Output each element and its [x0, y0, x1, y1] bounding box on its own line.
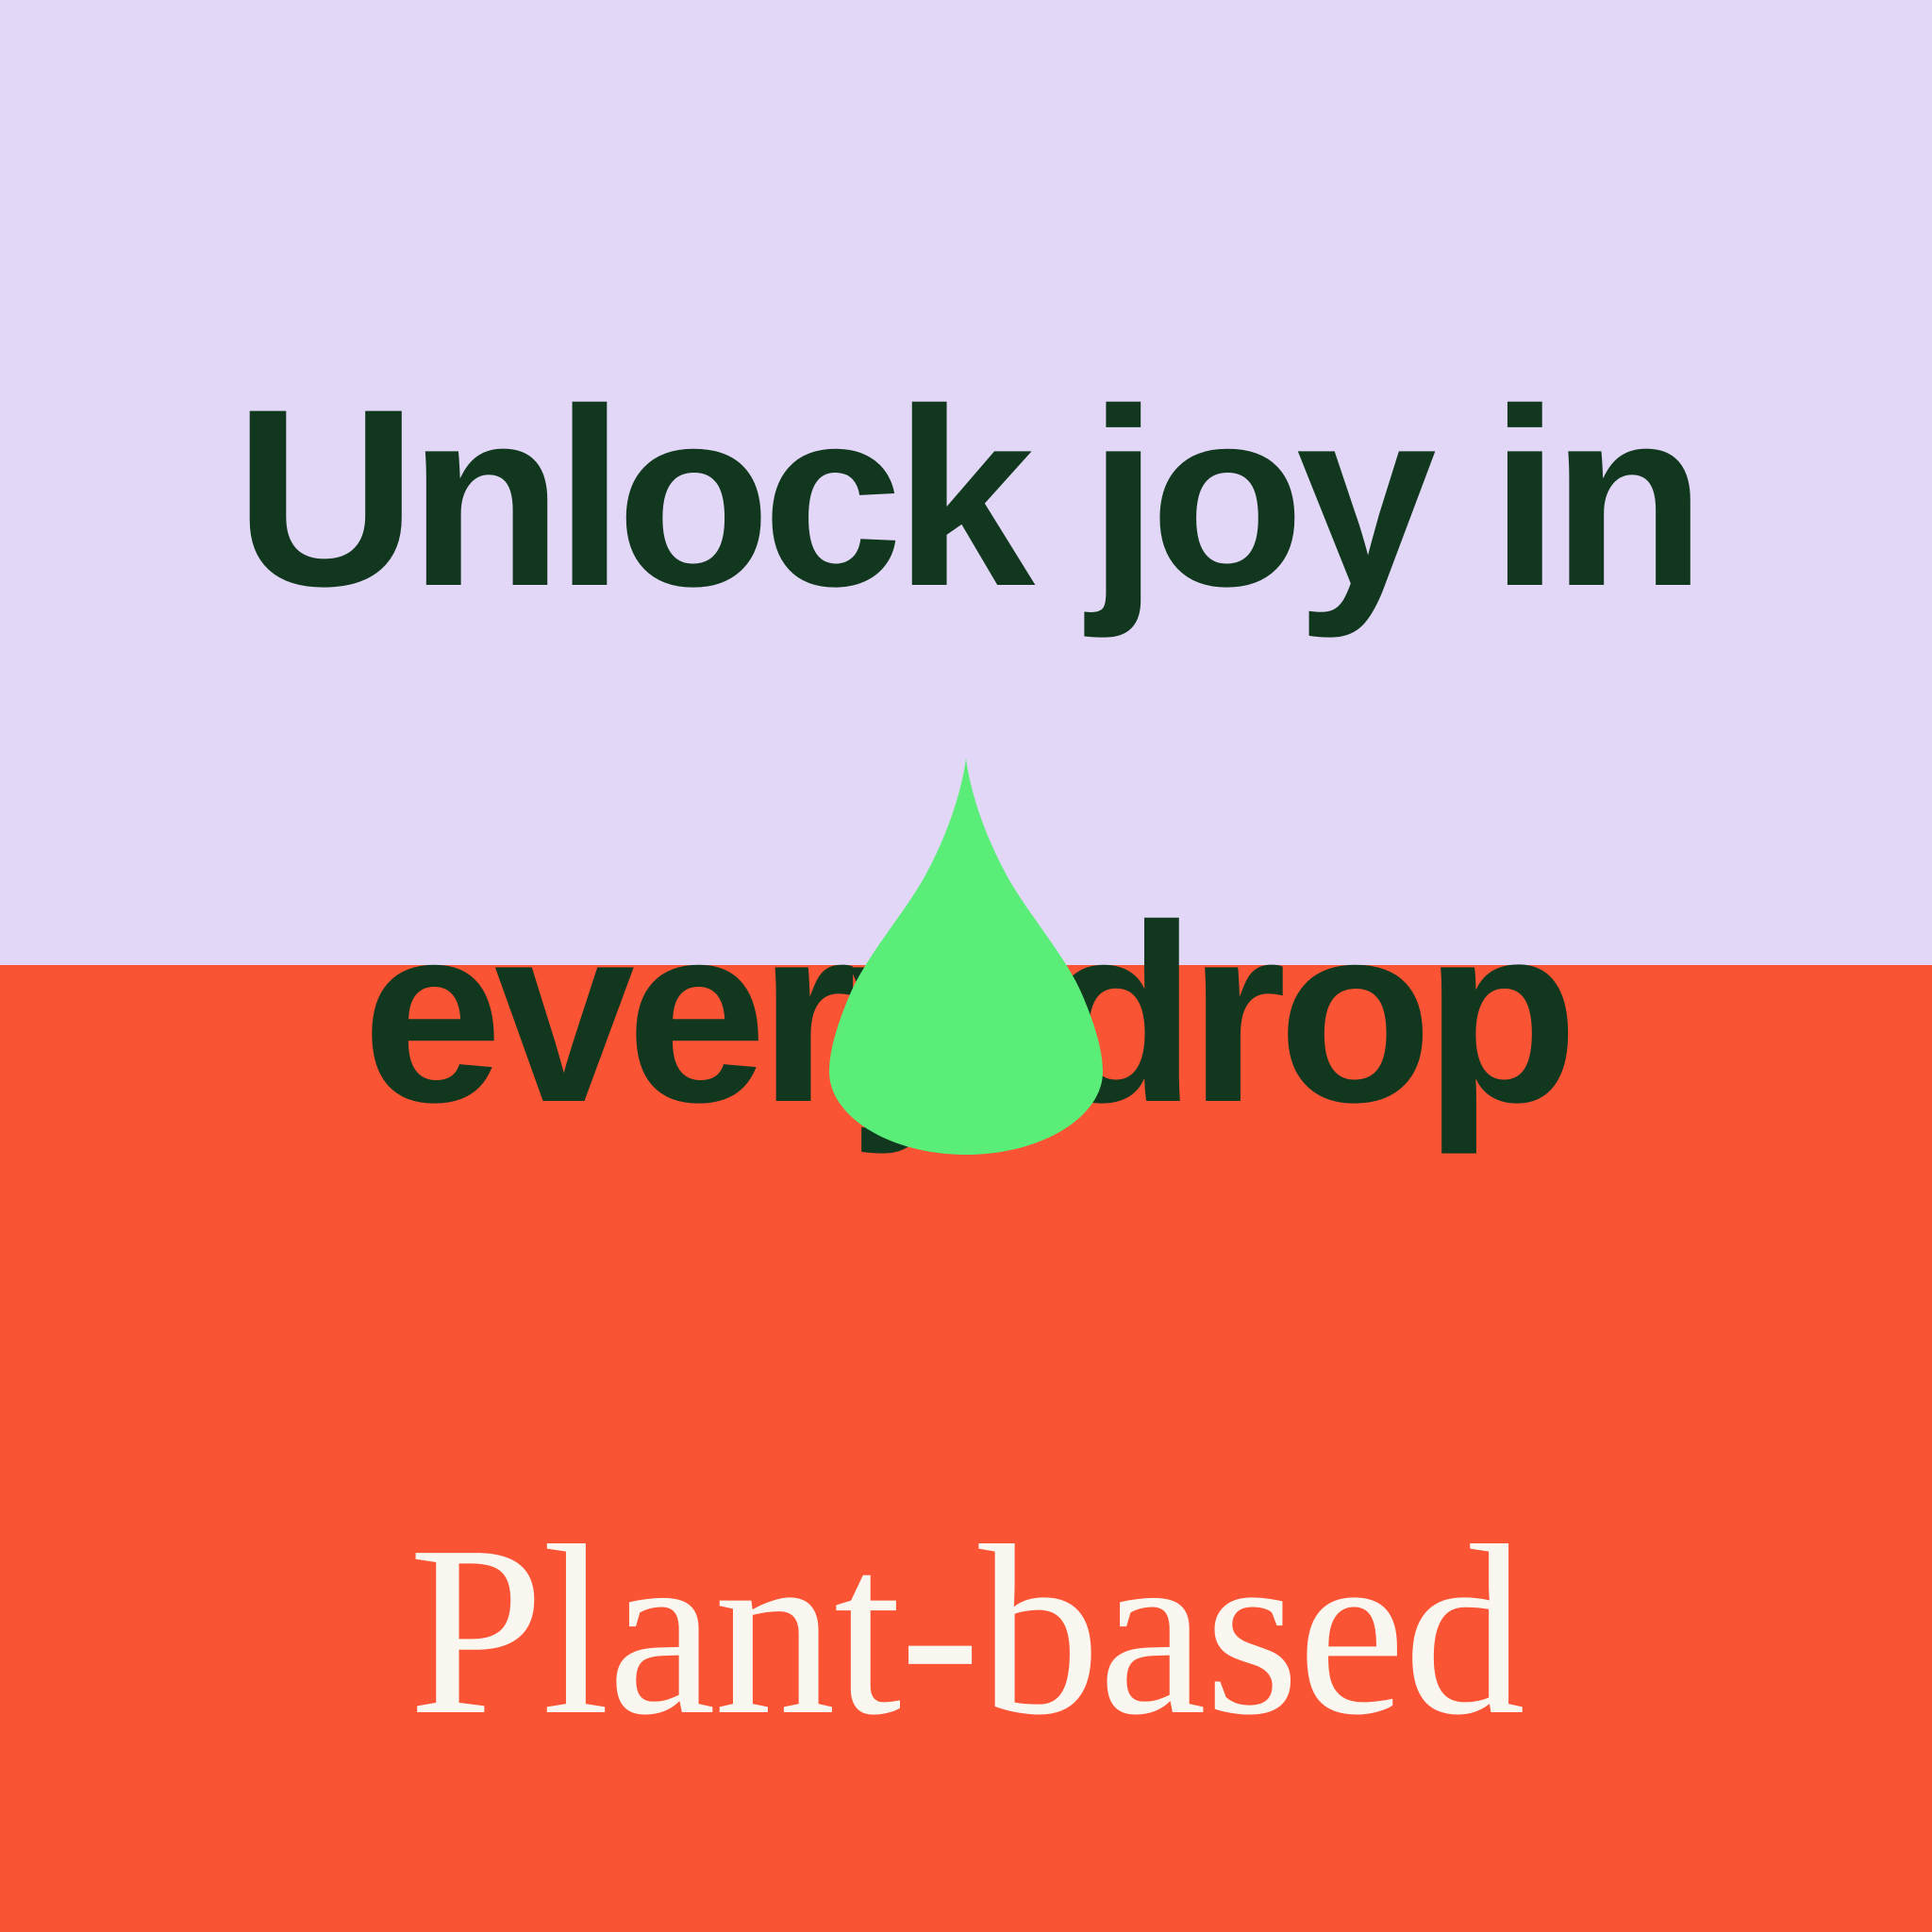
promo-poster: Unlock joy in every drop Plant-based eve… — [0, 0, 1932, 1932]
water-drop-shape — [829, 758, 1103, 1155]
subhead: Plant-based everyday bliss — [0, 1196, 1932, 1932]
subhead-line-1: Plant-based — [0, 1486, 1932, 1775]
water-drop-icon — [829, 758, 1103, 1155]
headline-line-1: Unlock joy in — [0, 369, 1932, 626]
